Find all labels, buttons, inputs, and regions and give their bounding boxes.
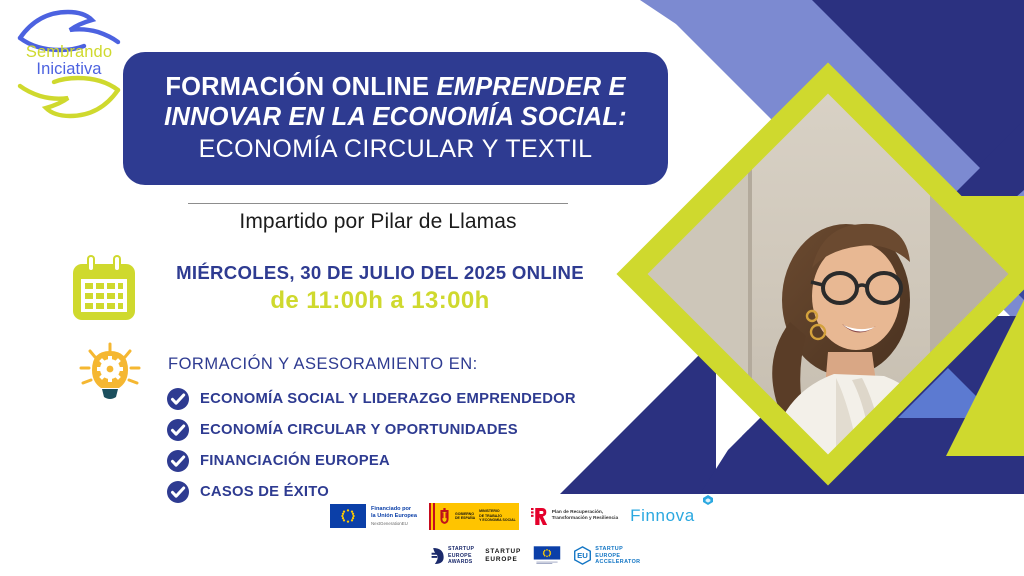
spain-logo-body: GOBIERNO DE ESPAÑA MINISTERIO DE TRABAJO… — [435, 503, 519, 530]
lightbulb-gear-icon — [74, 342, 146, 404]
spain-coat-of-arms-icon — [438, 507, 451, 526]
accelerator-line-1: STARTUP — [595, 546, 623, 552]
list-item: FINANCIACIÓN EUROPEA — [166, 445, 636, 476]
svg-text:EU: EU — [577, 552, 588, 561]
accelerator-line-2: EUROPE — [595, 553, 620, 559]
eu-funding-text: Financiado por la Unión Europea NextGene… — [371, 506, 417, 525]
eu-line-3: NextGenerationEU — [371, 521, 417, 526]
title-line-3: ECONOMÍA CIRCULAR Y TEXTIL — [199, 134, 593, 164]
footer-row-secondary: STARTUP EUROPE AWARDS STARTUP EUROPE — [430, 540, 670, 572]
list-item: ECONOMÍA SOCIAL Y LIDERAZGO EMPRENDEDOR — [166, 383, 636, 414]
recovery-plan-text: Plan de Recuperación, Transformación y R… — [552, 510, 618, 522]
topics-list: ECONOMÍA SOCIAL Y LIDERAZGO EMPRENDEDOR … — [166, 383, 636, 507]
list-item-label: CASOS DE ÉXITO — [200, 484, 329, 500]
brand-line-sembrando: Sembrando — [8, 44, 130, 61]
accelerator-line-3: ACCELERATOR — [595, 559, 640, 565]
topics-heading: FORMACIÓN Y ASESORAMIENTO EN: — [168, 355, 478, 374]
check-circle-icon — [166, 449, 190, 473]
awards-text: STARTUP EUROPE AWARDS — [448, 546, 474, 565]
speaker-photo — [632, 78, 1024, 470]
shape-periwinkle-small — [898, 368, 998, 418]
eu-flag-icon — [330, 504, 366, 528]
spain-line-5: Y ECONOMÍA SOCIAL — [479, 518, 516, 522]
logo-eu-emblem — [532, 545, 562, 567]
poster-canvas: Sembrando Iniciativa FORMACIÓN ONLINE EM… — [0, 0, 1024, 576]
event-date: MIÉRCOLES, 30 DE JULIO DEL 2025 ONLINE — [160, 262, 600, 284]
startup-europe-line-2: EUROPE — [485, 556, 517, 563]
shape-lime-upper-right — [940, 196, 1024, 282]
calendar-icon — [68, 254, 140, 326]
shape-navy-bottom-band — [700, 430, 1024, 494]
list-item-label: ECONOMÍA CIRCULAR Y OPORTUNIDADES — [200, 422, 518, 438]
shape-navy-right-mid — [966, 196, 1024, 300]
recovery-line-1: Plan de Recuperación, — [552, 510, 603, 515]
shape-navy-bottom-right — [742, 316, 1024, 436]
finnova-cube-icon — [703, 492, 713, 502]
shape-lime-bottom-right — [946, 300, 1024, 456]
shape-navy-top — [812, 0, 1024, 198]
finnova-wordmark: Finnova — [630, 506, 695, 526]
list-item-label: FINANCIACIÓN EUROPEA — [200, 453, 390, 469]
brand-line-iniciativa: Iniciativa — [8, 61, 130, 78]
spain-text-ministerio: MINISTERIO DE TRABAJO Y ECONOMÍA SOCIAL — [479, 509, 516, 522]
accelerator-text: STARTUP EUROPE ACCELERATOR — [595, 546, 640, 565]
logo-startup-europe: STARTUP EUROPE — [485, 548, 521, 564]
brand-logo: Sembrando Iniciativa — [8, 4, 130, 124]
startup-europe-line-1: STARTUP — [485, 548, 521, 555]
title-banner: FORMACIÓN ONLINE EMPRENDER E INNOVAR EN … — [123, 52, 668, 185]
list-item: ECONOMÍA CIRCULAR Y OPORTUNIDADES — [166, 414, 636, 445]
check-circle-icon — [166, 480, 190, 504]
title-line-2: INNOVAR EN LA ECONOMÍA SOCIAL: — [164, 103, 627, 133]
recovery-plan-r-icon — [531, 507, 548, 526]
eu-line-1: Financiado por — [371, 506, 417, 513]
event-time: de 11:00h a 13:00h — [160, 287, 600, 315]
logo-startup-europe-accelerator: EU STARTUP EUROPE ACCELERATOR — [573, 546, 640, 565]
logo-plan-recuperacion: Plan de Recuperación, Transformación y R… — [531, 507, 618, 526]
title-line-1: FORMACIÓN ONLINE EMPRENDER E — [165, 73, 625, 103]
schedule-block: MIÉRCOLES, 30 DE JULIO DEL 2025 ONLINE d… — [160, 262, 600, 315]
spain-text-gobierno: GOBIERNO DE ESPAÑA — [455, 512, 475, 521]
eu-emblem-icon — [532, 545, 562, 567]
title-line-1-italic: EMPRENDER E — [436, 73, 625, 101]
footer-row-primary: Financiado por la Unión Europea NextGene… — [330, 498, 702, 534]
speaker-divider — [188, 203, 568, 204]
brand-wordmark: Sembrando Iniciativa — [8, 44, 130, 79]
startup-europe-accelerator-icon: EU — [573, 546, 592, 565]
logo-gobierno-espana: GOBIERNO DE ESPAÑA MINISTERIO DE TRABAJO… — [429, 503, 519, 530]
eu-line-2: la Unión Europea — [371, 513, 417, 520]
check-circle-icon — [166, 387, 190, 411]
spain-line-2: DE ESPAÑA — [455, 516, 475, 520]
awards-line-1: STARTUP — [448, 546, 474, 552]
title-line-1-plain: FORMACIÓN ONLINE — [165, 73, 436, 101]
awards-line-3: AWARDS — [448, 559, 473, 565]
lime-diamond-frame — [632, 78, 1024, 470]
awards-line-2: EUROPE — [448, 553, 472, 559]
shape-periwinkle-top-left — [640, 0, 700, 40]
shape-periwinkle-band — [622, 0, 980, 248]
speaker-credit: Impartido por Pilar de Llamas — [148, 210, 608, 234]
logo-finnova: Finnova — [630, 506, 695, 526]
logo-eu-funding: Financiado por la Unión Europea NextGene… — [330, 504, 417, 528]
shape-navy-top-2 — [790, 0, 1024, 244]
list-item-label: ECONOMÍA SOCIAL Y LIDERAZGO EMPRENDEDOR — [200, 391, 576, 407]
startup-europe-awards-icon — [430, 547, 446, 565]
logo-startup-europe-awards: STARTUP EUROPE AWARDS — [430, 546, 474, 565]
startup-europe-text: STARTUP EUROPE — [485, 548, 521, 564]
recovery-line-2: Transformación y Resiliencia — [552, 516, 618, 521]
check-circle-icon — [166, 418, 190, 442]
shape-periwinkle-right — [950, 190, 1024, 330]
